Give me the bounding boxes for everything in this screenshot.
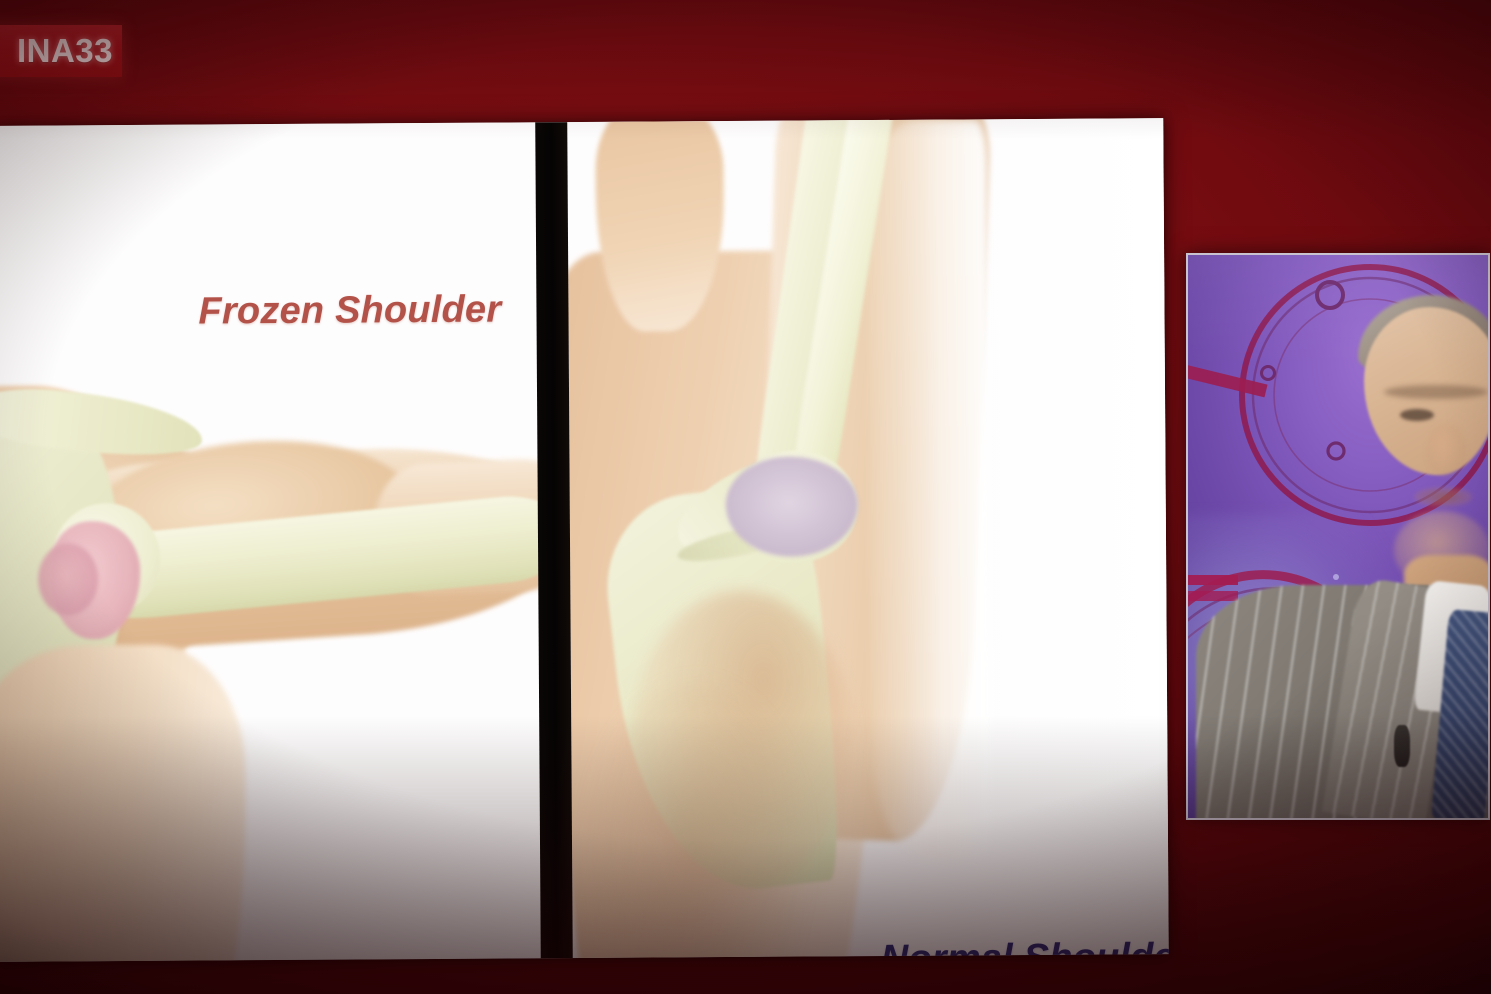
- presenter-eye: [1400, 409, 1434, 421]
- presenter-video-inset[interactable]: [1186, 253, 1490, 820]
- frozen-side-body-shape: [0, 644, 247, 962]
- caption-frozen-shoulder: Frozen Shoulder: [198, 289, 501, 334]
- presenter-nose: [1426, 423, 1466, 477]
- presenter-brow: [1384, 385, 1488, 399]
- caption-normal-shoulder: Normal Shoulder: [881, 936, 1169, 962]
- programme-logo-bug: INA33: [0, 25, 122, 77]
- presenter-mouth: [1414, 487, 1472, 507]
- broadcast-frame: Frozen Shoulder Normal Shoulder: [0, 0, 1491, 994]
- panel-divider: [535, 122, 573, 958]
- normal-arm-highlight: [867, 119, 992, 860]
- programme-logo-text: INA33: [17, 34, 113, 67]
- frozen-joint-capsule-inflamed: [38, 543, 98, 615]
- panel-normal-shoulder: [567, 118, 1169, 958]
- panel-frozen-shoulder: [0, 122, 541, 962]
- anatomy-slide-card: Frozen Shoulder Normal Shoulder: [0, 118, 1169, 962]
- presenter-lapel-microphone: [1394, 725, 1410, 767]
